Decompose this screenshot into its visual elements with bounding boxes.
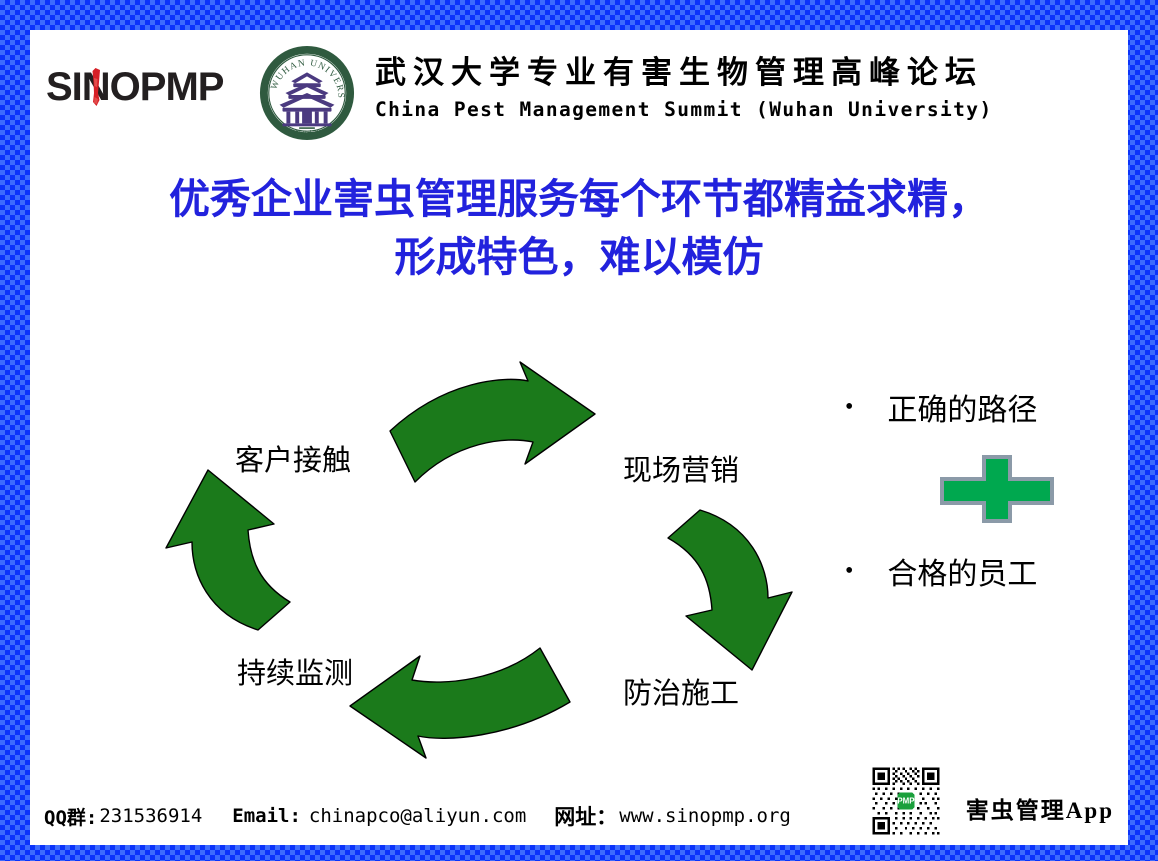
cycle-node-customer-contact: 客户接触 [235,437,351,479]
slide-footer: QQ群: 231536914 Email: chinapco@aliyun.co… [30,755,1128,845]
cycle-arrows-group [100,330,860,800]
sinopmp-logo: SINOPMP [46,57,242,123]
list-item-label: 正确的路径 [887,385,1037,429]
slide-canvas: SINOPMP WUHAN UNIVERSITY [0,0,1158,861]
email-value[interactable]: chinapco@aliyun.com [309,805,526,827]
green-plus-icon [940,455,1054,523]
qr-center-label: PMP [897,797,915,806]
summit-title-cn: 武汉大学专业有害生物管理高峰论坛 [375,54,1115,93]
arrow-left-up-icon [166,470,290,630]
list-item-label: 合格的员工 [887,549,1037,593]
app-name-label: 害虫管理App [966,791,1114,825]
plus-icon-container [845,429,1115,549]
wuhan-university-seal-icon: WUHAN UNIVERSITY [258,44,356,142]
pmp-qr-code[interactable]: PMP [870,765,942,837]
summit-title-en: China Pest Management Summit (Wuhan Univ… [375,98,1115,121]
service-cycle-diagram: 客户接触 现场营销 防治施工 持续监测 [100,330,860,800]
arrow-top-right-icon [390,362,595,482]
bullet-dot-icon: • [845,395,853,419]
svg-text:武汉大学: 武汉大学 [293,129,321,138]
sinopmp-wordmark: SINOPMP [46,65,223,110]
sinopmp-brush-stroke-icon [88,51,103,123]
list-item-qualified-staff: • 合格的员工 [845,549,1115,593]
headline-line-1: 优秀企业害虫管理服务每个环节都精益求精， [169,176,989,222]
slide-content-area: SINOPMP WUHAN UNIVERSITY [30,30,1128,845]
arrow-bottom-left-icon [350,648,570,758]
page-title: 优秀企业害虫管理服务每个环节都精益求精， 形成特色，难以模仿 [30,170,1128,286]
headline-line-2: 形成特色，难以模仿 [30,228,1128,286]
qq-group-label: QQ群: [44,803,97,830]
summit-title-block: 武汉大学专业有害生物管理高峰论坛 China Pest Management S… [375,54,1115,121]
bullet-dot-icon: • [845,559,853,583]
arrow-right-down-icon [668,510,792,670]
cycle-node-onsite-marketing: 现场营销 [623,447,739,489]
footer-contact-line: QQ群: 231536914 Email: chinapco@aliyun.co… [44,801,791,831]
key-points-list: • 正确的路径 • 合格的员工 [845,385,1115,593]
cycle-node-continuous-monitoring: 持续监测 [237,650,353,692]
list-item-correct-path: • 正确的路径 [845,385,1115,429]
website-value[interactable]: www.sinopmp.org [619,805,791,827]
email-label: Email: [232,805,301,827]
cycle-node-treatment-work: 防治施工 [623,670,739,712]
qq-group-value: 231536914 [99,805,202,827]
slide-header: SINOPMP WUHAN UNIVERSITY [30,30,1128,155]
website-label: 网址： [554,801,617,831]
